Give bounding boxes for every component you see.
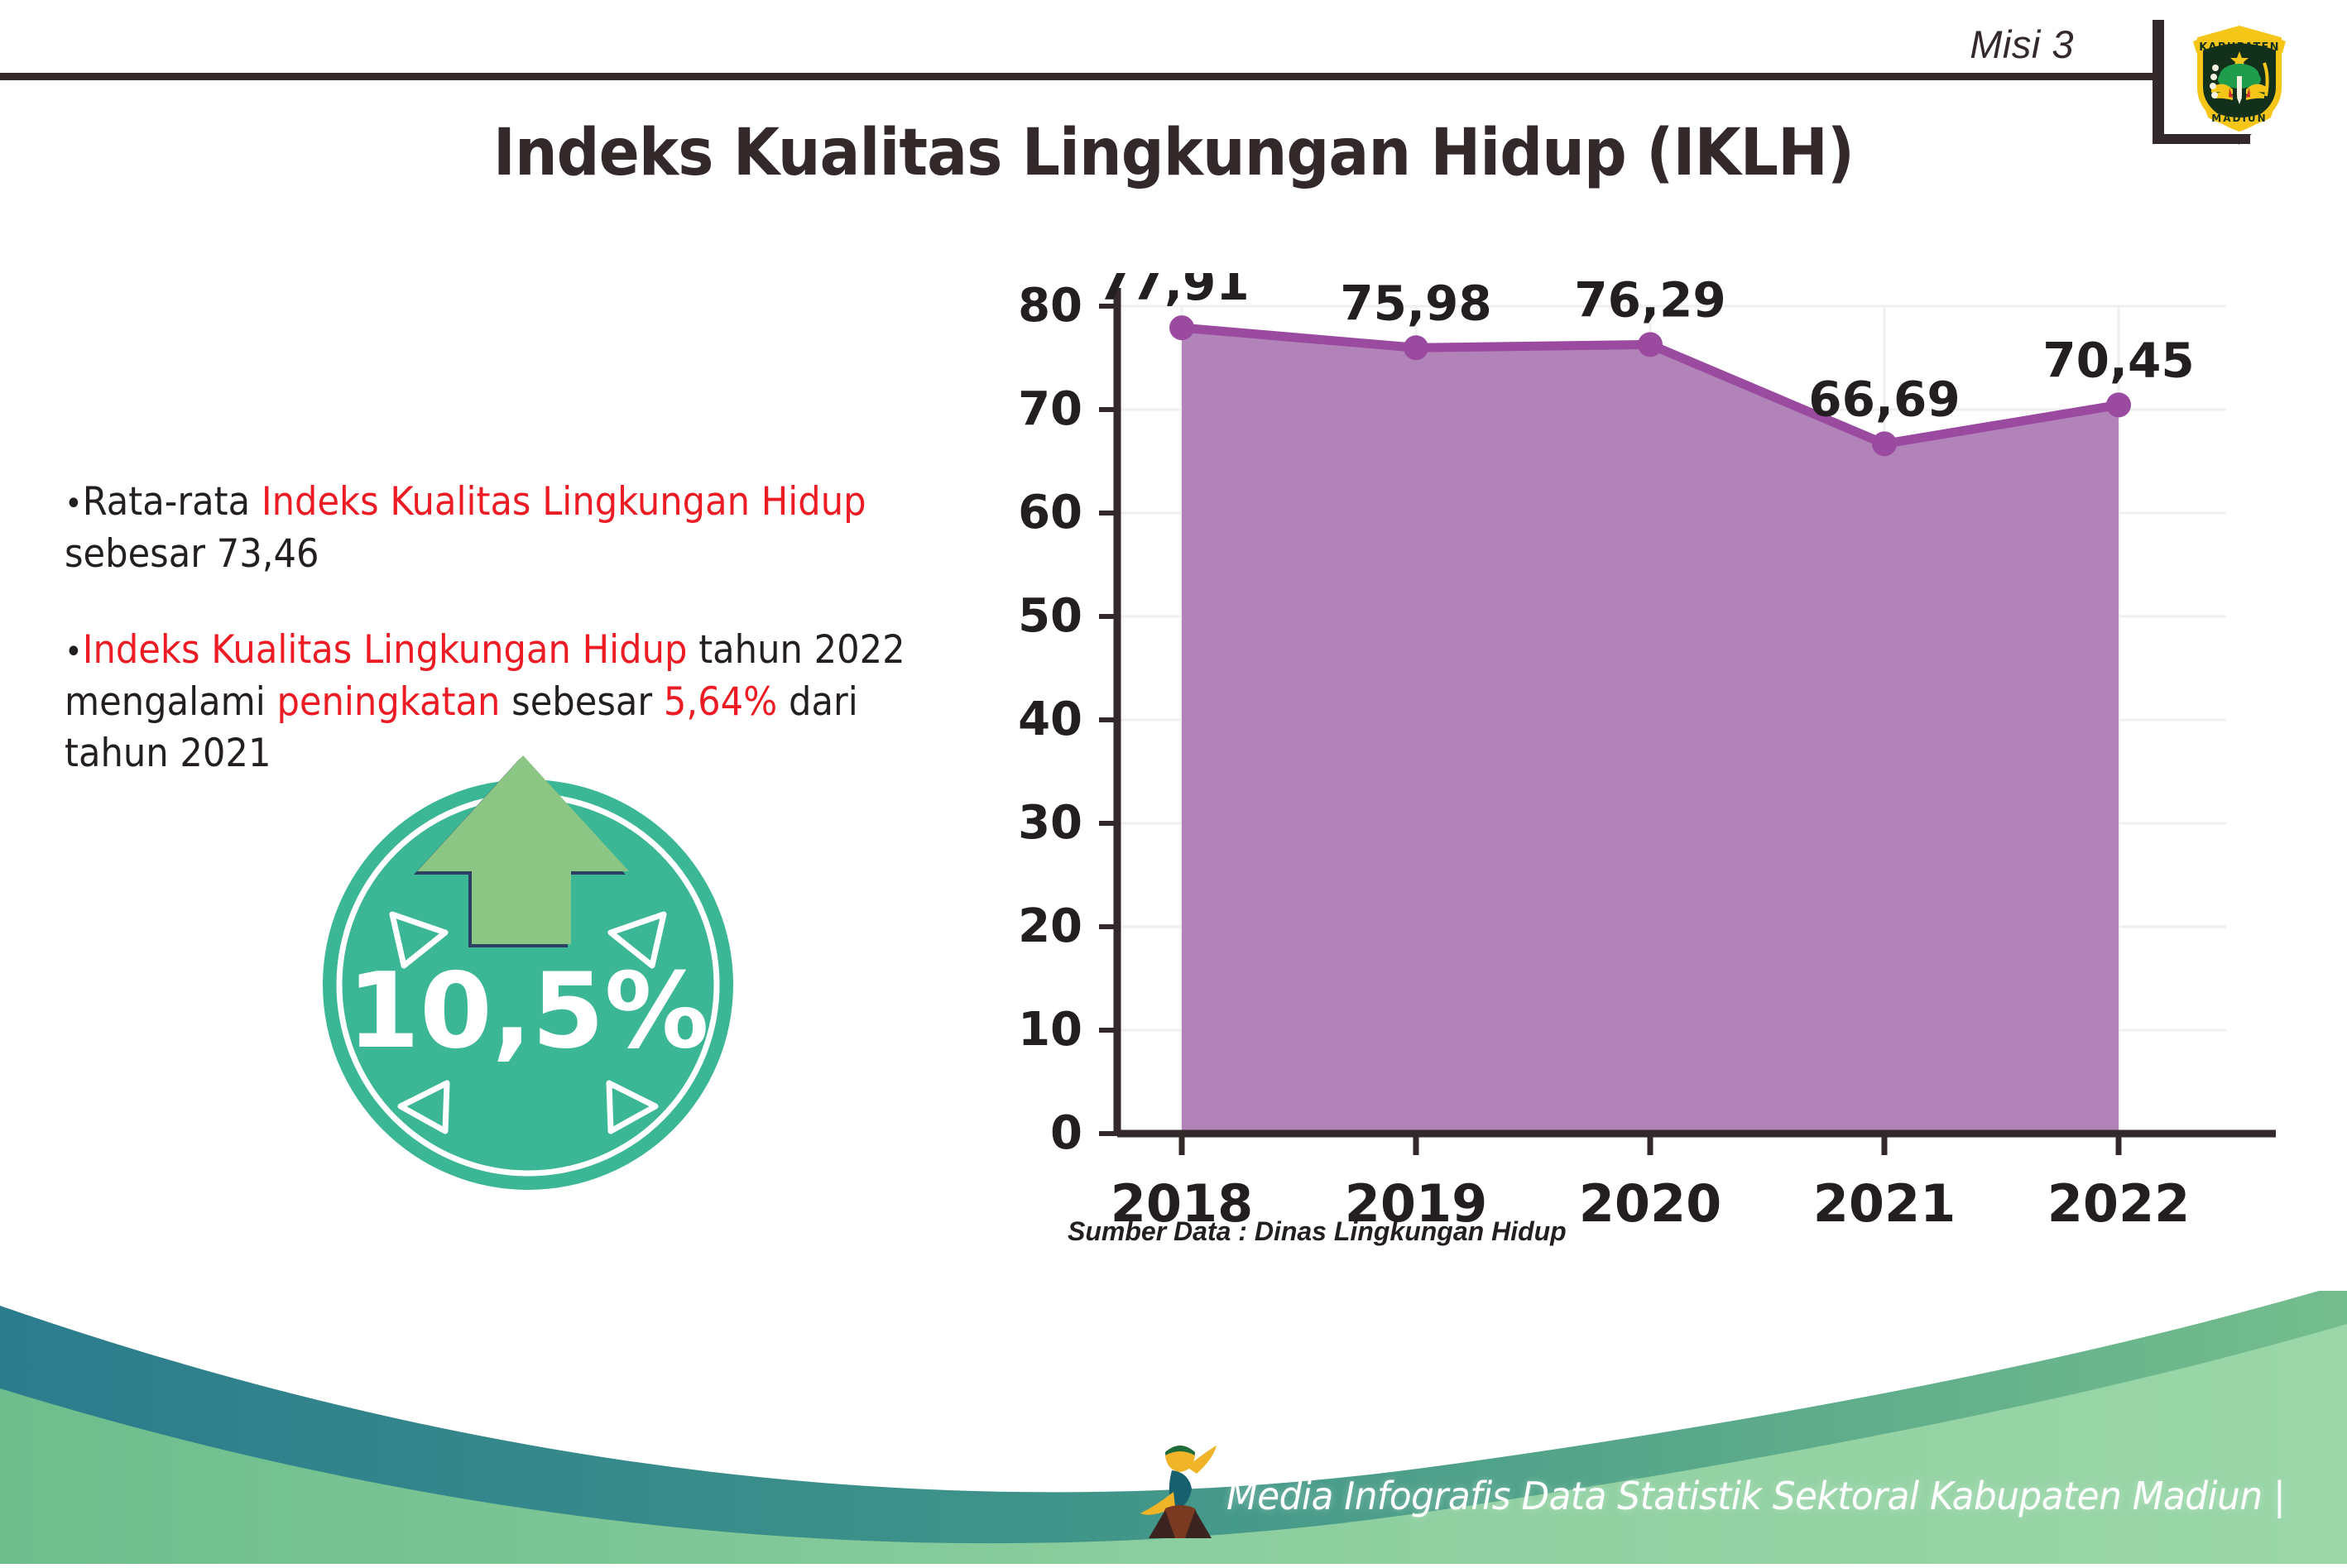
bullet-1-text: Rata-rata Indeks Kualitas Lingkungan Hid…	[65, 479, 866, 577]
highlighted-phrase: 5,64%	[664, 679, 777, 725]
y-tick-label: 70	[1018, 382, 1082, 436]
plain-phrase: sebesar 73,46	[65, 531, 319, 577]
y-tick-label: 20	[1018, 899, 1082, 953]
header-divider-rule	[0, 73, 2160, 80]
highlighted-phrase: Indeks Kualitas Lingkungan Hidup	[83, 627, 688, 673]
data-label: 77,91	[1097, 273, 1249, 311]
plain-phrase: sebesar	[500, 679, 663, 725]
page-title: Indeks Kualitas Lingkungan Hidup (IKLH)	[82, 116, 2264, 190]
bullet-dot: •	[65, 485, 83, 523]
y-tick-label: 0	[1050, 1106, 1082, 1160]
chart-source-note: Sumber Data : Dinas Lingkungan Hidup	[1068, 1216, 1567, 1247]
y-tick-label: 60	[1018, 486, 1082, 539]
data-marker	[1169, 315, 1194, 340]
data-label: 76,29	[1574, 273, 1725, 328]
data-label: 70,45	[2042, 332, 2194, 388]
y-tick-label: 40	[1018, 693, 1082, 746]
data-marker	[2106, 392, 2131, 417]
y-tick-label: 10	[1018, 1003, 1082, 1057]
iklh-area-chart: 01020304050607080 20182019202020212022 7…	[952, 273, 2292, 1291]
chart-area-series	[1182, 328, 2119, 1134]
footer-caption: Media Infografis Data Statistik Sektoral…	[1226, 1474, 2285, 1518]
y-tick-label: 50	[1018, 589, 1082, 643]
highlighted-phrase: Indeks Kualitas Lingkungan Hidup	[262, 479, 866, 525]
highlighted-phrase: peningkatan	[276, 679, 500, 725]
x-tick-label: 2022	[2047, 1173, 2191, 1234]
media-infografis-logo	[1137, 1437, 1223, 1541]
data-marker	[1404, 335, 1428, 360]
y-tick-label: 80	[1018, 279, 1082, 333]
mission-label: Misi 3	[1970, 22, 2074, 67]
y-tick-label: 30	[1018, 796, 1082, 850]
chart-y-tick-labels: 01020304050607080	[1018, 279, 1082, 1160]
percentage-increase-badge: 10,5%	[321, 749, 735, 1192]
bullet-item-average: •Rata-rata Indeks Kualitas Lingkungan Hi…	[65, 477, 917, 580]
data-marker	[1872, 431, 1897, 456]
data-label: 66,69	[1808, 371, 1960, 427]
data-label: 75,98	[1340, 275, 1491, 331]
plain-phrase: Rata-rata	[83, 479, 262, 525]
x-tick-label: 2021	[1813, 1173, 1956, 1234]
badge-value-label: 10,5%	[347, 950, 708, 1072]
bullet-dot: •	[65, 633, 83, 671]
data-marker	[1638, 332, 1663, 357]
x-tick-label: 2020	[1579, 1173, 1722, 1234]
